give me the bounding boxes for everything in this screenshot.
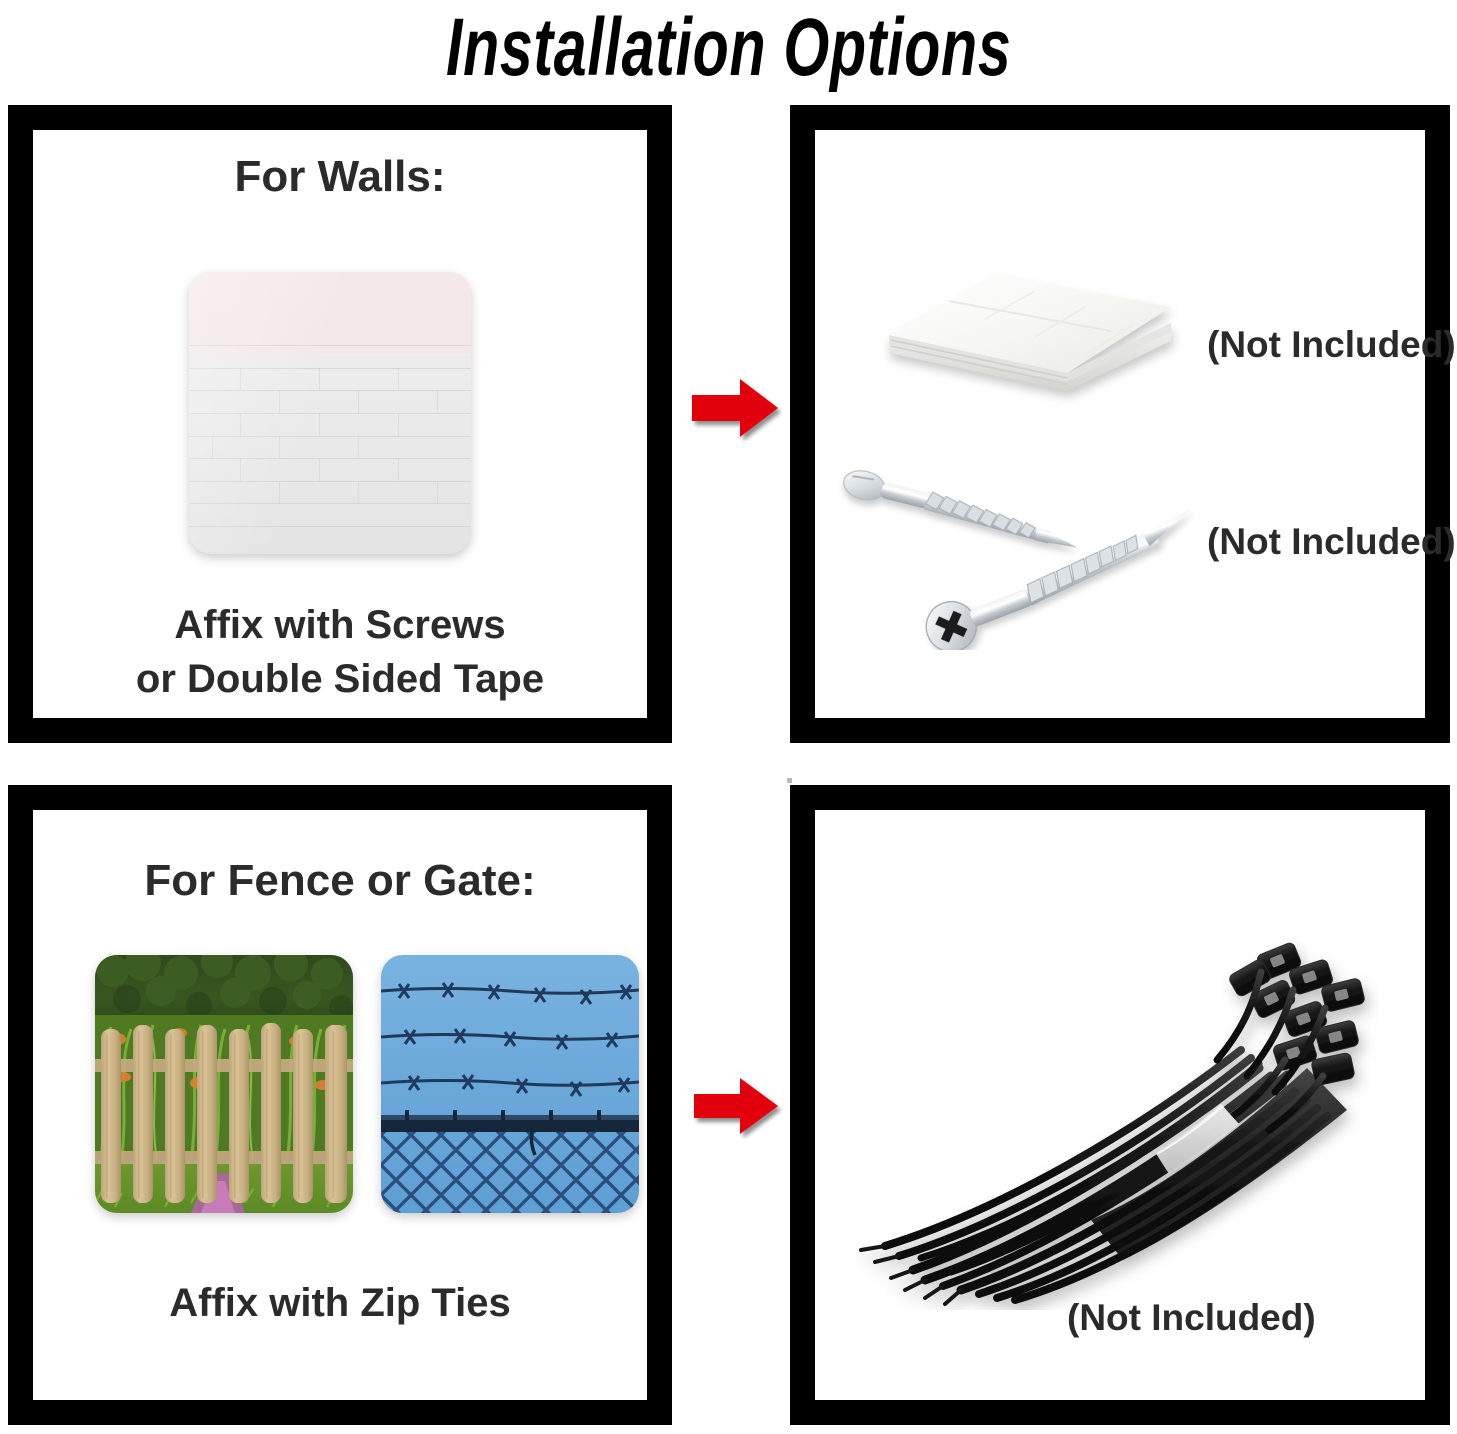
page-title: Installation Options: [446, 7, 1011, 89]
panel-for-walls: For Walls:: [8, 105, 672, 743]
double-sided-tape-stack: [875, 245, 1185, 430]
black-zip-ties-bundle: [855, 920, 1395, 1310]
panel-fence-hardware: (Not Included): [790, 785, 1450, 1425]
wooden-picket-fence-photo: [95, 955, 353, 1213]
wood-screws-pair: [835, 450, 1205, 650]
page-title-bar: Installation Options: [0, 0, 1457, 96]
walls-caption-line2: or Double Sided Tape: [33, 652, 647, 706]
chain-link-barbed-wire-fence-photo: [381, 955, 639, 1213]
fence-caption: Affix with Zip Ties: [33, 1276, 647, 1330]
artifact-dot: [787, 778, 792, 783]
panel-for-fence-or-gate: For Fence or Gate:: [8, 785, 672, 1425]
panel-wall-hardware: (Not Included): [790, 105, 1450, 743]
screws-not-included-label: (Not Included): [1207, 522, 1456, 562]
red-right-arrow-walls-to-hardware: [690, 375, 782, 441]
for-walls-heading: For Walls:: [33, 152, 647, 202]
tape-not-included-label: (Not Included): [1207, 325, 1456, 365]
red-right-arrow-fence-to-hardware: [692, 1073, 782, 1139]
for-fence-heading: For Fence or Gate:: [33, 856, 647, 906]
white-brick-wall-photo: [189, 272, 471, 554]
zipties-not-included-label: (Not Included): [1067, 1298, 1316, 1338]
walls-caption-line1: Affix with Screws: [33, 598, 647, 652]
